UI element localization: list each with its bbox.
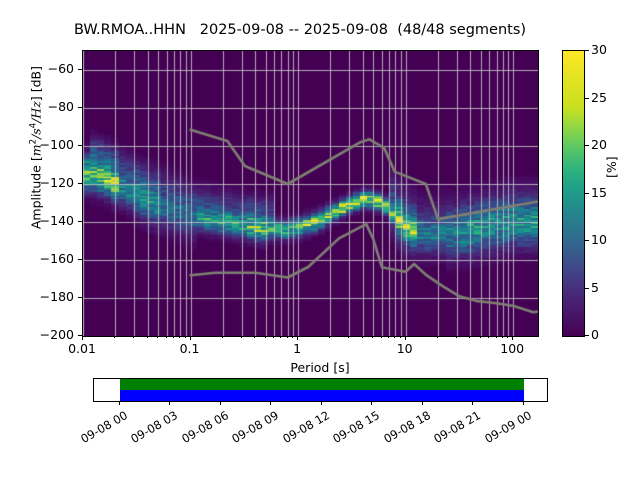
x-minor-tick-mark [280,336,281,338]
x-minor-tick-mark [388,336,389,338]
colorbar-tick-mark [585,240,589,241]
y-tick-mark [78,183,82,184]
x-tick-label: 0.01 [52,341,112,356]
colorbar-tick-mark [585,98,589,99]
colorbar-tick-label: 15 [591,185,607,200]
colorbar-tick-label: 30 [591,42,607,57]
x-minor-tick-mark [273,336,274,338]
x-minor-tick-mark [381,336,382,338]
timeline-tick-mark [472,401,473,405]
timeline-tick-mark [371,401,372,405]
x-tick-mark [512,336,513,340]
y-tick-label: −200 [4,327,74,342]
y-tick-label: −60 [4,61,74,76]
y-tick-label: −140 [4,213,74,228]
y-tick-mark [78,221,82,222]
x-tick-label: 10 [375,341,435,356]
timeline-tick-mark [119,401,120,405]
x-minor-tick-mark [265,336,266,338]
timeline-tick-mark [270,401,271,405]
x-minor-tick-mark [469,336,470,338]
x-minor-tick-mark [496,336,497,338]
x-minor-tick-mark [456,336,457,338]
y-tick-label: −100 [4,137,74,152]
x-minor-tick-mark [502,336,503,338]
timeline-axes[interactable] [93,378,548,402]
y-tick-mark [78,297,82,298]
timeline-tick-mark [422,401,423,405]
x-minor-tick-mark [241,336,242,338]
colorbar[interactable] [562,50,585,337]
colorbar-tick-label: 25 [591,90,607,105]
x-minor-tick-mark [179,336,180,338]
y-tick-label: −160 [4,251,74,266]
x-minor-tick-mark [507,336,508,338]
x-minor-tick-mark [287,336,288,338]
colorbar-tick-label: 20 [591,137,607,152]
x-axis-label: Period [s] [0,360,640,375]
colorbar-tick-mark [585,50,589,51]
colorbar-tick-mark [585,335,589,336]
colorbar-tick-mark [585,193,589,194]
x-minor-tick-mark [222,336,223,338]
y-tick-label: −180 [4,289,74,304]
timeline-tick-mark [321,401,322,405]
x-minor-tick-mark [488,336,489,338]
y-tick-label: −120 [4,175,74,190]
x-minor-tick-mark [166,336,167,338]
x-minor-tick-mark [362,336,363,338]
y-tick-mark [78,145,82,146]
x-tick-mark [405,336,406,340]
x-tick-mark [297,336,298,340]
x-minor-tick-mark [480,336,481,338]
colorbar-label: [%] [604,156,619,178]
x-minor-tick-mark [372,336,373,338]
colorbar-tick-mark [585,288,589,289]
colorbar-tick-label: 5 [591,280,599,295]
x-minor-tick-mark [400,336,401,338]
x-minor-tick-mark [114,336,115,338]
x-tick-mark [190,336,191,340]
x-minor-tick-mark [173,336,174,338]
x-tick-label: 100 [482,341,542,356]
x-minor-tick-mark [292,336,293,338]
x-minor-tick-mark [437,336,438,338]
x-minor-tick-mark [329,336,330,338]
x-minor-tick-mark [394,336,395,338]
noise-model-curves [83,51,538,336]
ppsd-main-axes[interactable] [82,50,539,337]
colorbar-tick-mark [585,145,589,146]
x-minor-tick-mark [133,336,134,338]
page-title: BW.RMOA..HHN 2025-09-08 -- 2025-09-08 (4… [0,22,600,38]
y-tick-mark [78,69,82,70]
y-tick-label: −80 [4,99,74,114]
x-tick-mark [82,336,83,340]
colorbar-tick-label: 10 [591,232,607,247]
y-tick-mark [78,259,82,260]
data-coverage-bar[interactable] [120,379,524,390]
x-minor-tick-mark [185,336,186,338]
x-minor-tick-mark [147,336,148,338]
x-minor-tick-mark [157,336,158,338]
ppsd-figure: BW.RMOA..HHN 2025-09-08 -- 2025-09-08 (4… [0,0,640,480]
y-tick-mark [78,107,82,108]
timeline-tick-mark [169,401,170,405]
colorbar-tick-label: 0 [591,327,599,342]
timeline-tick-mark [220,401,221,405]
x-tick-label: 0.1 [160,341,220,356]
x-minor-tick-mark [348,336,349,338]
timeline-tick-mark [523,401,524,405]
x-tick-label: 1 [267,341,327,356]
x-minor-tick-mark [254,336,255,338]
psd-segments-bar[interactable] [120,390,524,401]
